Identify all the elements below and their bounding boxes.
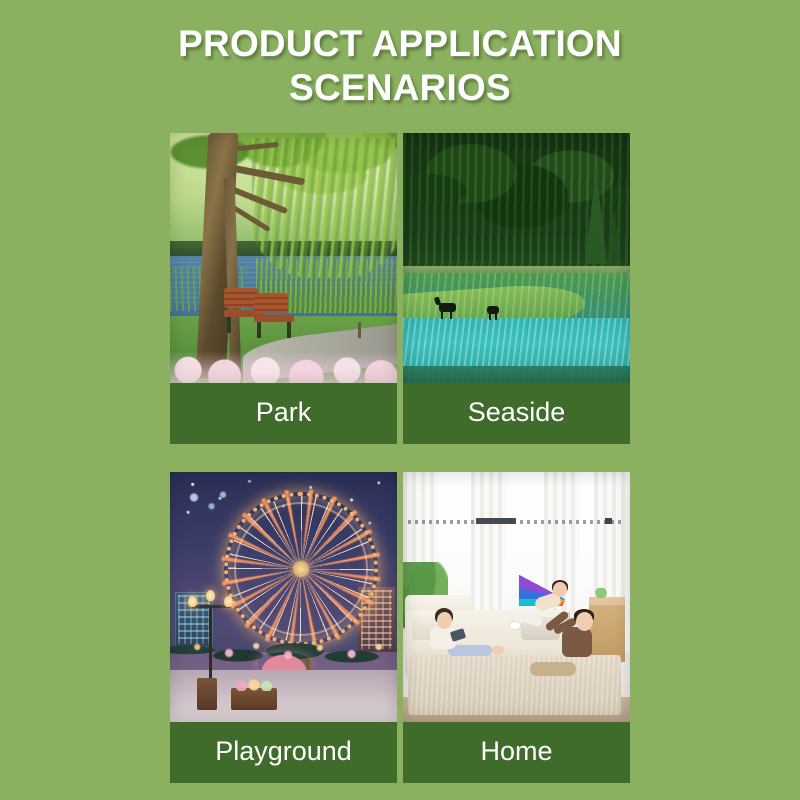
bench-leg	[287, 322, 291, 338]
scenario-card-park[interactable]: Park	[170, 133, 397, 444]
page-title: PRODUCT APPLICATION SCENARIOS	[0, 22, 800, 110]
lamp-bulb	[188, 596, 197, 607]
page-title-line-2: SCENARIOS	[0, 66, 800, 110]
wooden-shelf	[589, 597, 625, 662]
park-bench	[254, 293, 294, 338]
card-label-home: Home	[403, 722, 630, 783]
park-photo	[170, 133, 397, 383]
flower-planter	[231, 688, 277, 710]
bench-leg	[227, 317, 231, 333]
scenario-card-playground[interactable]: Playground	[170, 472, 397, 783]
festival-lights	[170, 622, 397, 672]
card-label-seaside: Seaside	[403, 383, 630, 444]
horse-silhouette	[439, 303, 456, 312]
scenario-card-home[interactable]: Home	[403, 472, 630, 783]
seaside-photo	[403, 133, 630, 383]
scenario-card-grid: Park Seaside	[170, 133, 630, 783]
father-body	[562, 627, 592, 657]
page-title-line-1: PRODUCT APPLICATION	[178, 23, 622, 64]
playground-photo	[170, 472, 397, 722]
curtain-rail	[408, 520, 626, 524]
home-photo	[403, 472, 630, 722]
bench-legs	[257, 322, 291, 338]
card-label-park: Park	[170, 383, 397, 444]
foreground-bank	[403, 366, 630, 384]
bench-leg	[257, 322, 261, 338]
lamp-bulb	[224, 596, 233, 607]
mother-head	[437, 612, 452, 629]
mother-feet	[492, 646, 504, 654]
child-shoe	[510, 622, 520, 629]
child-head	[553, 582, 567, 597]
card-label-playground: Playground	[170, 722, 397, 783]
lamp-bulb	[206, 590, 215, 601]
tall-fir-tree	[585, 168, 607, 264]
trash-bin	[197, 678, 217, 710]
product-application-scenarios-poster: PRODUCT APPLICATION SCENARIOS	[0, 0, 800, 800]
horse-silhouette	[487, 306, 499, 314]
blossom-foreground	[170, 351, 397, 384]
bench-seat	[254, 315, 294, 322]
father-head	[576, 612, 593, 631]
bench-backrest	[254, 293, 288, 313]
curtain-rail-end	[605, 518, 612, 524]
area-rug	[408, 655, 621, 715]
scenario-card-seaside[interactable]: Seaside	[403, 133, 630, 444]
path-post	[358, 322, 361, 338]
father-legs	[530, 662, 576, 676]
curtain-rail-bracket	[476, 518, 517, 524]
